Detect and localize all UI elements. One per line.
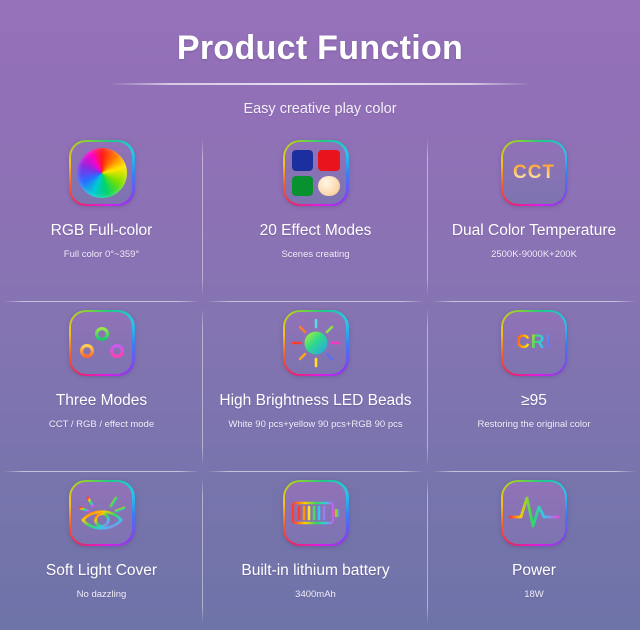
cct-label: CCT bbox=[513, 162, 555, 184]
swatch-peach-circle bbox=[318, 176, 340, 197]
swatch-green bbox=[292, 176, 314, 197]
color-wheel-disc bbox=[77, 148, 127, 198]
title-divider bbox=[110, 83, 530, 85]
four-swatches-icon bbox=[283, 140, 349, 206]
eye-icon bbox=[69, 480, 135, 546]
feature-cell-power: Power 18W bbox=[428, 472, 640, 630]
sliders-graphic bbox=[79, 319, 125, 367]
feature-cell-cri: CRI ≥95 Restoring the original color bbox=[428, 302, 640, 472]
feature-subtitle: CCT / RGB / effect mode bbox=[45, 419, 158, 430]
swatch-group bbox=[292, 150, 340, 196]
feature-cell-soft-light-cover: Soft Light Cover No dazzling bbox=[0, 472, 203, 630]
feature-cell-led-beads: High Brightness LED Beads White 90 pcs+y… bbox=[203, 302, 428, 472]
feature-subtitle: 3400mAh bbox=[291, 589, 340, 600]
feature-subtitle: Restoring the original color bbox=[473, 419, 594, 430]
cct-text-icon: CCT bbox=[501, 140, 567, 206]
feature-title: Three Modes bbox=[52, 392, 151, 410]
feature-cell-three-modes: Three Modes CCT / RGB / effect mode bbox=[0, 302, 203, 472]
feature-grid: RGB Full-color Full color 0°~359° 20 Eff… bbox=[0, 132, 640, 630]
feature-title: High Brightness LED Beads bbox=[215, 392, 415, 410]
sun-icon bbox=[283, 310, 349, 376]
sun-graphic bbox=[290, 317, 342, 369]
cri-label: CRI bbox=[516, 332, 552, 354]
battery-icon bbox=[283, 480, 349, 546]
cri-text-icon: CRI bbox=[501, 310, 567, 376]
page-header: Product Function Easy creative play colo… bbox=[0, 0, 640, 117]
feature-subtitle: No dazzling bbox=[73, 589, 131, 600]
feature-title: Power bbox=[508, 562, 560, 580]
feature-title: 20 Effect Modes bbox=[256, 222, 376, 240]
feature-cell-battery: Built-in lithium battery 3400mAh bbox=[203, 472, 428, 630]
feature-title: Dual Color Temperature bbox=[448, 222, 620, 240]
feature-subtitle: Scenes creating bbox=[277, 249, 353, 260]
feature-title: ≥95 bbox=[517, 392, 551, 410]
feature-title: Soft Light Cover bbox=[42, 562, 161, 580]
swatch-blue bbox=[292, 150, 314, 171]
battery-graphic bbox=[290, 496, 342, 530]
feature-subtitle: 2500K-9000K+200K bbox=[487, 249, 581, 260]
page-subtitle: Easy creative play color bbox=[0, 101, 640, 117]
page-title: Product Function bbox=[0, 30, 640, 67]
swatch-red bbox=[318, 150, 340, 171]
color-wheel-icon bbox=[69, 140, 135, 206]
feature-cell-effect-modes: 20 Effect Modes Scenes creating bbox=[203, 132, 428, 302]
eye-graphic bbox=[76, 489, 128, 537]
feature-subtitle: Full color 0°~359° bbox=[60, 249, 143, 260]
feature-subtitle: White 90 pcs+yellow 90 pcs+RGB 90 pcs bbox=[224, 419, 406, 430]
sliders-icon bbox=[69, 310, 135, 376]
feature-title: RGB Full-color bbox=[47, 222, 157, 240]
feature-cell-dual-color-temperature: CCT Dual Color Temperature 2500K-9000K+2… bbox=[428, 132, 640, 302]
feature-subtitle: 18W bbox=[520, 589, 548, 600]
waveform-graphic bbox=[508, 493, 560, 533]
waveform-icon bbox=[501, 480, 567, 546]
feature-cell-rgb-full-color: RGB Full-color Full color 0°~359° bbox=[0, 132, 203, 302]
feature-title: Built-in lithium battery bbox=[237, 562, 393, 580]
